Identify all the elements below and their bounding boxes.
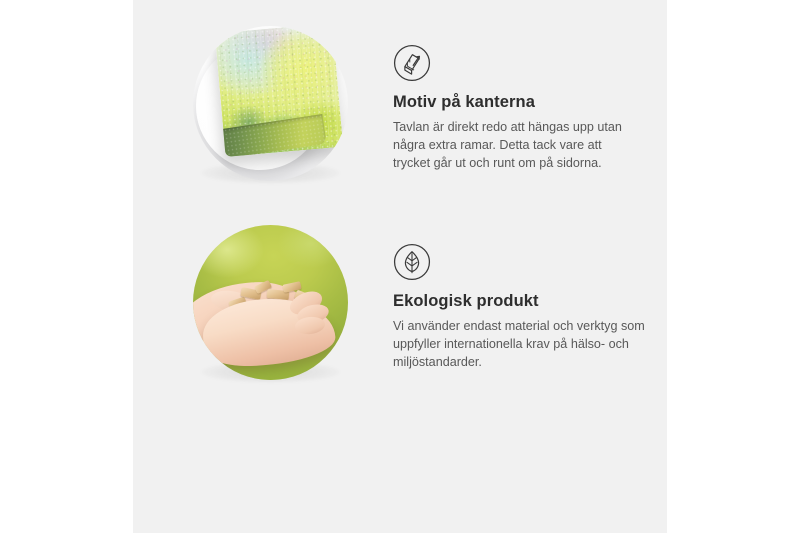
feature-copy: Motiv på kanterna Tavlan är direkt redo … <box>393 26 683 172</box>
feature-body-line: Tavlan är direkt redo att hängas upp uta… <box>393 119 683 137</box>
feature-block-edges: Motiv på kanterna Tavlan är direkt redo … <box>193 26 683 181</box>
wood-chips-circle-image <box>193 225 348 380</box>
content-panel: Motiv på kanterna Tavlan är direkt redo … <box>133 0 667 533</box>
feature-body: Vi använder endast material och verktyg … <box>393 318 683 372</box>
feature-body-line: Vi använder endast material och verktyg … <box>393 318 683 336</box>
wood-chips-photo <box>193 225 348 380</box>
canvas-block <box>215 26 343 157</box>
product-feature-banner: Motiv på kanterna Tavlan är direkt redo … <box>0 0 800 533</box>
feature-body-line: några extra ramar. Detta tack vare att <box>393 137 683 155</box>
feature-title: Motiv på kanterna <box>393 93 683 113</box>
feature-title: Ekologisk produkt <box>393 292 683 312</box>
feature-body-line: uppfyller internationella krav på hälso-… <box>393 336 683 354</box>
feature-copy: Ekologisk produkt Vi använder endast mat… <box>393 225 683 371</box>
feature-body-line: trycket går ut och runt om på sidorna. <box>393 155 683 173</box>
canvas-print-circle-image <box>193 26 348 181</box>
feature-body-line: miljöstandarder. <box>393 354 683 372</box>
feature-block-eco: Ekologisk produkt Vi använder endast mat… <box>193 225 683 380</box>
canvas-print-photo <box>193 26 348 181</box>
wrapped-canvas-edge-icon <box>393 44 431 82</box>
leaf-icon <box>393 243 431 281</box>
feature-body: Tavlan är direkt redo att hängas upp uta… <box>393 119 683 173</box>
